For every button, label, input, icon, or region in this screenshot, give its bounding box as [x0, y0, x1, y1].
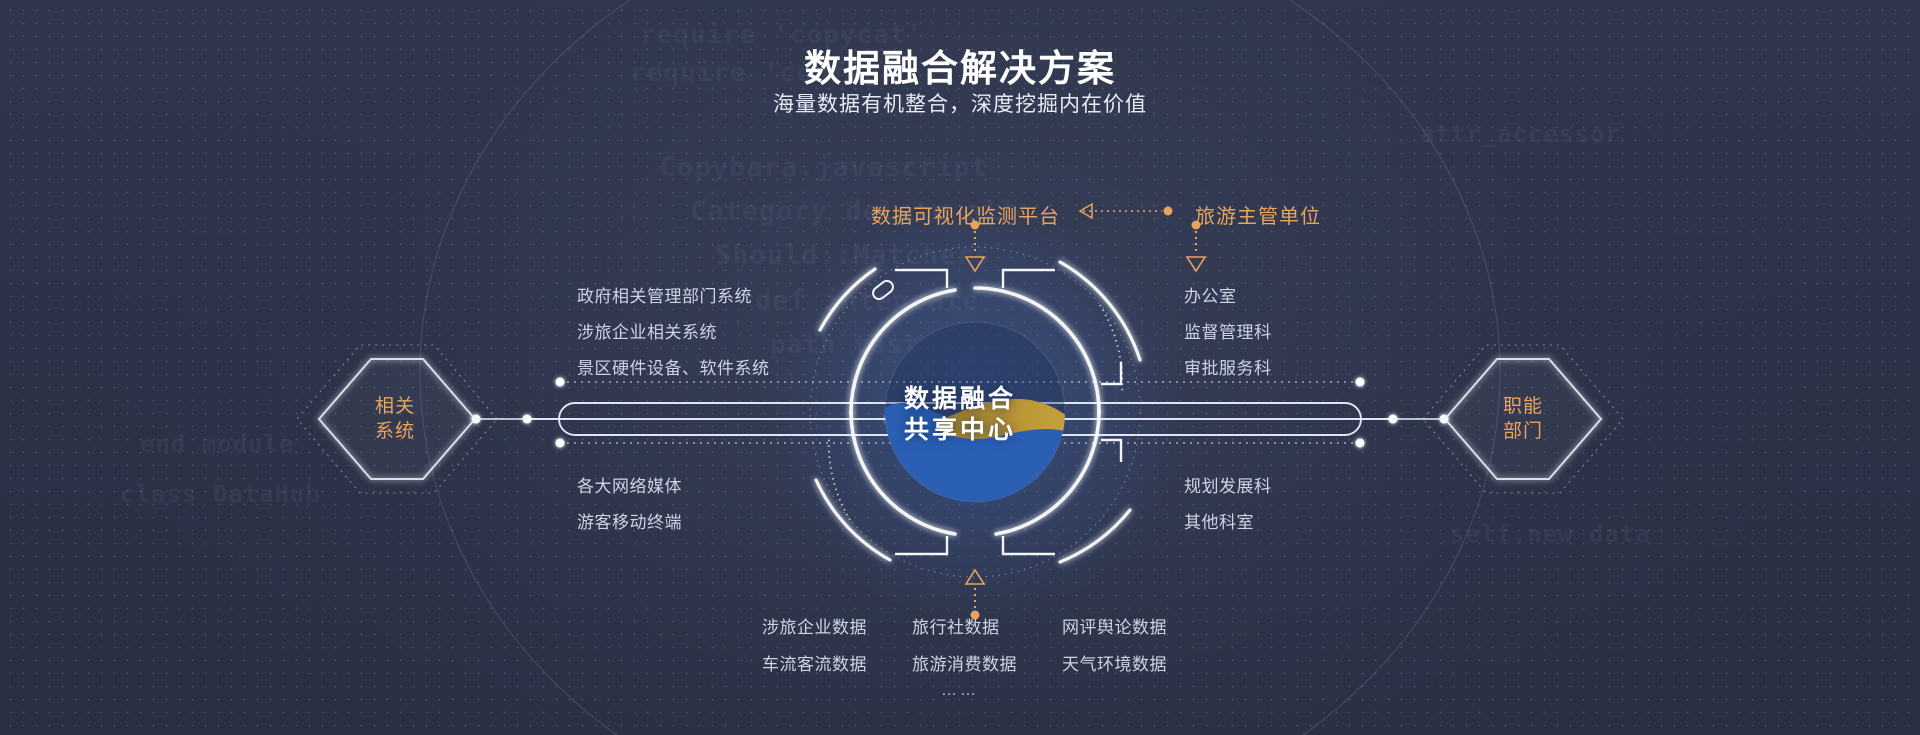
right-hexagon-label-line1: 职能 [1465, 394, 1581, 419]
bottom-item-weather-data[interactable]: 天气环境数据 [1062, 650, 1167, 675]
left-hexagon-label[interactable]: 相关 系统 [337, 394, 453, 444]
ring-dotted-outer [810, 247, 1140, 577]
ring-inner-2 [996, 412, 1099, 534]
bg-code-watermark: path test [770, 330, 920, 360]
ring-arc-bl [816, 480, 890, 560]
right-hexagon-label-line2: 部门 [1465, 419, 1581, 444]
core-liquid-sphere [885, 322, 1068, 505]
ring-tick-bottom-left [895, 536, 947, 554]
left-bracket [559, 403, 1030, 435]
top-right-connector-arrow [1187, 257, 1205, 271]
left-item-network-media[interactable]: 各大网络媒体 [577, 472, 682, 497]
ring-capsule-marker [871, 278, 896, 301]
left-item-gov-system[interactable]: 政府相关管理部门系统 [577, 282, 752, 307]
bg-code-watermark: class DataHub [120, 480, 321, 508]
core-label-line2: 共享中心 [0, 415, 1920, 446]
top-flow-arrow-tail-dot [1164, 207, 1172, 215]
bottom-item-traffic-flow-data[interactable]: 车流客流数据 [762, 650, 867, 675]
bg-code-watermark: Should::Matchers [715, 240, 991, 271]
top-flow-arrow-head [1080, 204, 1092, 218]
bottom-item-online-review-data[interactable]: 网评舆论数据 [1062, 613, 1167, 638]
ring-inner-4 [851, 290, 955, 412]
bg-code-watermark: def integrate [755, 285, 979, 316]
core-label-line1: 数据融合 [0, 384, 1920, 415]
right-item-office[interactable]: 办公室 [1184, 282, 1237, 307]
right-item-other[interactable]: 其他科室 [1184, 508, 1254, 533]
left-connector-group [528, 382, 1030, 443]
ring-tick-right-lower [1101, 440, 1121, 462]
ring-tick-right-upper [1101, 362, 1121, 384]
ring-inner-1 [975, 288, 1099, 412]
right-flow-arrows [899, 414, 933, 424]
right-bracket [890, 403, 1361, 435]
ring-inner-3 [851, 412, 955, 534]
bottom-item-consumption-data[interactable]: 旅游消费数据 [912, 650, 1017, 675]
page-title: 数据融合解决方案 [0, 38, 1920, 92]
infographic-canvas: require 'copycat' require 'config' Copyb… [0, 0, 1920, 735]
bg-code-watermark: attr_accessor [1420, 120, 1621, 148]
right-item-supervision[interactable]: 监督管理科 [1184, 318, 1272, 343]
right-hexagon-label[interactable]: 职能 部门 [1465, 394, 1581, 444]
page-subtitle: 海量数据有机整合，深度挖掘内在价值 [0, 88, 1920, 118]
core-wave-blue [885, 401, 1066, 505]
bg-code-watermark: self.new data [1450, 520, 1651, 548]
top-left-connector-arrow [966, 257, 984, 271]
left-item-tourism-enterprise[interactable]: 涉旅企业相关系统 [577, 318, 717, 343]
label-visualization-platform[interactable]: 数据可视化监测平台 [871, 200, 1060, 229]
right-connector-nodes [886, 378, 1449, 448]
core-label: 数据融合 共享中心 [0, 384, 1920, 446]
core-rings [810, 247, 1140, 577]
bottom-item-travel-agency-data[interactable]: 旅行社数据 [912, 613, 1000, 638]
ring-dotted-bl [829, 436, 850, 520]
ring-dotted-tr [1100, 305, 1122, 392]
bottom-connector-arrow [966, 570, 984, 584]
left-item-mobile-terminal[interactable]: 游客移动终端 [577, 508, 682, 533]
right-item-approval[interactable]: 审批服务科 [1184, 354, 1272, 379]
left-hexagon-label-line2: 系统 [337, 419, 453, 444]
bottom-connector [966, 570, 984, 619]
bg-code-watermark: Copybara.javascript [660, 152, 988, 183]
ring-tick-top-right [1003, 270, 1055, 288]
ring-arc-tr [1060, 262, 1140, 360]
bottom-ellipsis: …… [0, 682, 1920, 700]
core-wave-gold [940, 399, 1068, 439]
ring-arc-br [1060, 510, 1130, 562]
label-tourism-authority[interactable]: 旅游主管单位 [1195, 200, 1321, 229]
left-hexagon-label-line1: 相关 [337, 394, 453, 419]
right-item-planning[interactable]: 规划发展科 [1184, 472, 1272, 497]
bg-code-watermark: end module [140, 430, 295, 458]
core-glow [765, 202, 1185, 622]
ring-tick-bottom-right [1003, 536, 1055, 554]
ring-tick-top-left [895, 270, 947, 288]
ring-arc-tl [820, 269, 875, 330]
left-flow-arrows [987, 414, 1021, 424]
left-item-scenic-hardware[interactable]: 景区硬件设备、软件系统 [577, 354, 770, 379]
right-connector-group [890, 382, 1392, 443]
left-connector-nodes [472, 378, 1035, 448]
top-flow-arrow [1080, 204, 1172, 218]
bottom-item-enterprise-data[interactable]: 涉旅企业数据 [762, 613, 867, 638]
